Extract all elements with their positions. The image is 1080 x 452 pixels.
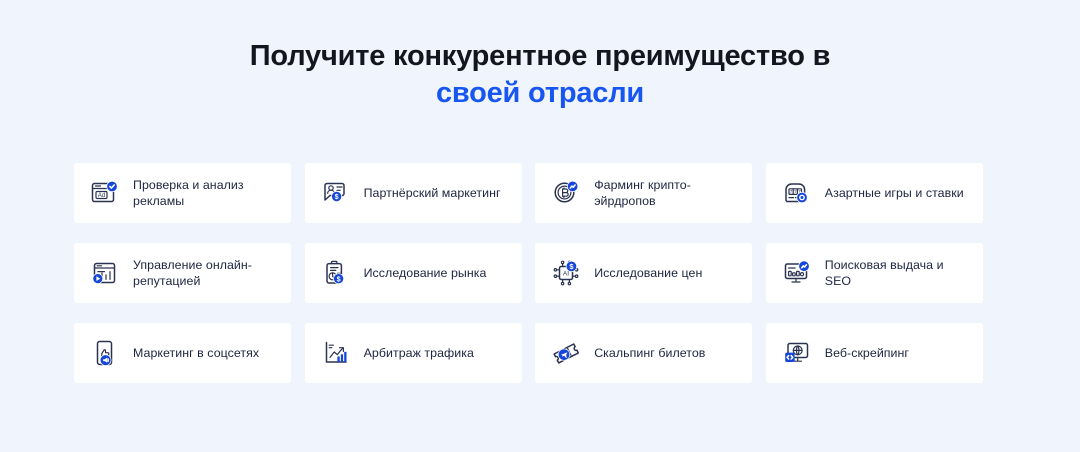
card-label: Скальпинг билетов <box>594 345 705 362</box>
svg-text:$: $ <box>334 192 338 201</box>
svg-text:$: $ <box>570 262 574 271</box>
card-ticket-scalping[interactable]: Скальпинг билетов <box>535 323 752 383</box>
svg-text:$: $ <box>336 274 340 283</box>
card-price-research[interactable]: AI $ Исследование цен <box>535 243 752 303</box>
bitcoin-chart-icon <box>549 176 583 210</box>
heading-line-accent: своей отрасли <box>0 75 1080 112</box>
card-label: Маркетинг в соцсетях <box>133 345 259 362</box>
card-label: Партнёрский маркетинг <box>364 185 501 202</box>
svg-text:7: 7 <box>790 189 793 194</box>
phone-thumbsup-megaphone-icon <box>88 336 122 370</box>
ad-window-check-icon: Ad <box>88 176 122 210</box>
svg-text:Ad: Ad <box>98 193 105 199</box>
card-traffic-arbitrage[interactable]: Арбитраж трафика <box>305 323 522 383</box>
card-gambling-betting[interactable]: 7 7 7 Азартные игры и ставки <box>766 163 983 223</box>
card-serp-seo[interactable]: Поисковая выдача и SEO <box>766 243 983 303</box>
industry-card-grid: Ad Проверка и анализ рекламы $ <box>74 163 982 383</box>
svg-text:7: 7 <box>794 189 797 194</box>
svg-text:AI: AI <box>563 270 569 277</box>
card-label: Поисковая выдача и SEO <box>825 257 971 290</box>
card-label: Проверка и анализ рекламы <box>133 177 279 210</box>
card-label: Арбитраж трафика <box>364 345 474 362</box>
monitor-globe-code-icon <box>780 336 814 370</box>
card-affiliate-marketing[interactable]: $ Партнёрский маркетинг <box>305 163 522 223</box>
card-label: Веб-скрейпинг <box>825 345 909 362</box>
card-crypto-airdrop[interactable]: Фарминг крипто-эйрдропов <box>535 163 752 223</box>
monitor-chart-trend-icon <box>780 256 814 290</box>
ticket-plane-icon <box>549 336 583 370</box>
heading-line-primary: Получите конкурентное преимущество в <box>0 38 1080 75</box>
line-chart-bars-icon <box>319 336 353 370</box>
card-social-media-marketing[interactable]: Маркетинг в соцсетях <box>74 323 291 383</box>
chat-person-dollar-icon: $ <box>319 176 353 210</box>
card-label: Азартные игры и ставки <box>825 185 964 202</box>
card-label: Исследование цен <box>594 265 702 282</box>
landing-section: Получите конкурентное преимущество в сво… <box>0 0 1080 452</box>
browser-stats-arrow-icon <box>88 256 122 290</box>
card-label: Фарминг крипто-эйрдропов <box>594 177 740 210</box>
clipboard-pie-dollar-icon: $ <box>319 256 353 290</box>
page-title: Получите конкурентное преимущество в сво… <box>0 0 1080 112</box>
card-ad-check[interactable]: Ad Проверка и анализ рекламы <box>74 163 291 223</box>
card-label: Управление онлайн-репутацией <box>133 257 279 290</box>
card-web-scraping[interactable]: Веб-скрейпинг <box>766 323 983 383</box>
ai-chip-dollar-icon: AI $ <box>549 256 583 290</box>
card-market-research[interactable]: $ Исследование рынка <box>305 243 522 303</box>
slot-machine-target-icon: 7 7 7 <box>780 176 814 210</box>
card-online-reputation[interactable]: Управление онлайн-репутацией <box>74 243 291 303</box>
card-label: Исследование рынка <box>364 265 487 282</box>
